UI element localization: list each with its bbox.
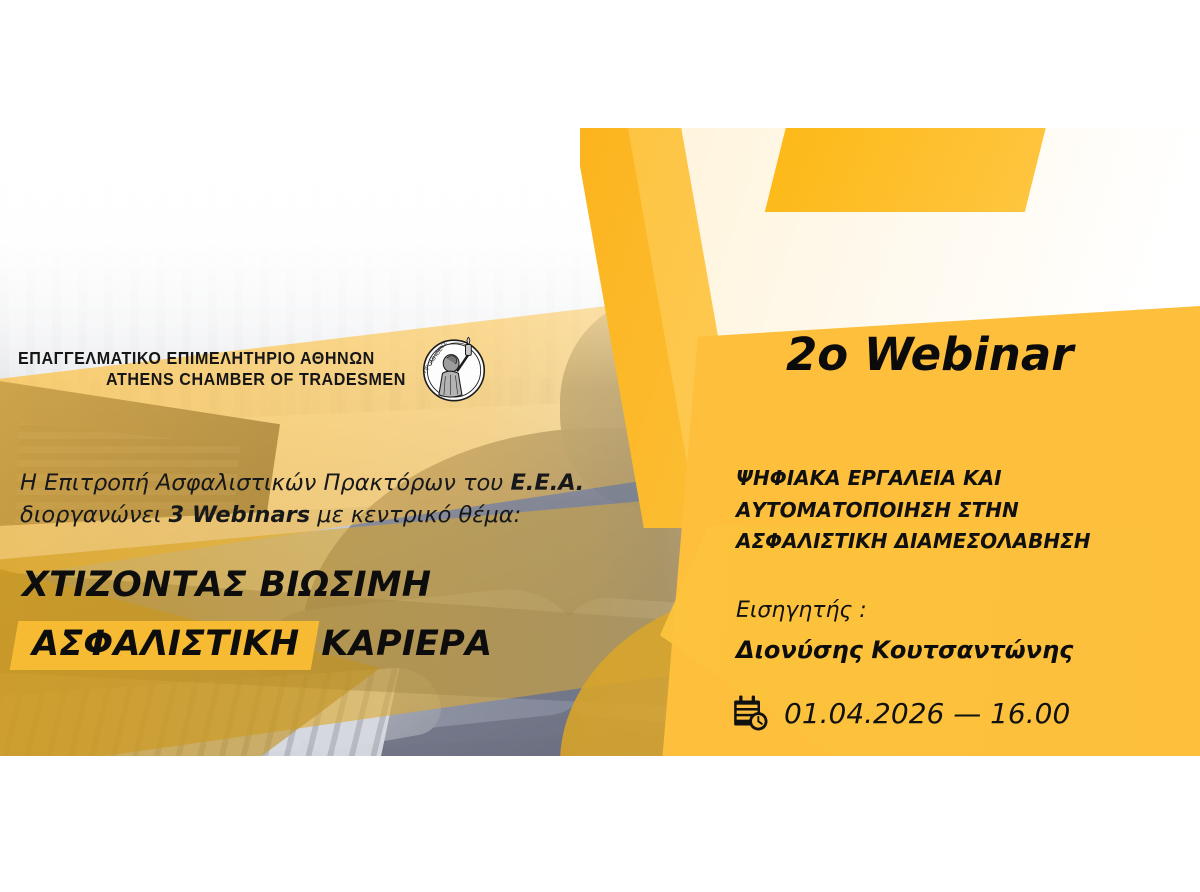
campaign-headline: ΧΤΙΖΟΝΤΑΣ ΒΙΩΣΙΜΗ ΑΣΦΑΛΙΣΤΙΚΗΚΑΡΙΕΡΑ [22, 568, 702, 670]
speaker-label: Εισηγητής : [736, 598, 867, 623]
swoosh-top-tab [765, 128, 1047, 212]
webinar-topic-line-3: ΑΣΦΑΛΙΣΤΙΚΗ ΔΙΑΜΕΣΟΛΑΒΗΣΗ [736, 526, 1176, 558]
webinar-topic: ΨΗΦΙΑΚΑ ΕΡΓΑΛΕΙΑ ΚΑΙ ΑΥΤΟΜΑΤΟΠΟΙΗΣΗ ΣΤΗΝ… [736, 463, 1176, 558]
intro-line-2-lead: διοργανώνει [20, 502, 168, 528]
webinar-datetime-text: 01.04.2026 — 16.00 [784, 697, 1070, 730]
webinar-topic-line-2: ΑΥΤΟΜΑΤΟΠΟΙΗΣΗ ΣΤΗΝ [736, 495, 1176, 527]
intro-eea-abbrev: Ε.Ε.Α. [510, 470, 584, 496]
intro-line-1-lead: Η Επιτροπή Ασφαλιστικών Πρακτόρων του [20, 470, 510, 496]
webinar-datetime: 01.04.2026 — 16.00 [730, 693, 1070, 733]
webinar-number-title: 2ο Webinar [786, 328, 1073, 381]
organization-logo: ΕΠΑΓΓΕΛΜΑΤΙΚΟ ΕΠΙΜΕΛΗΤΗΡΙΟ ΑΘΗΝΩΝ ATHENS… [18, 333, 490, 405]
banner-stage: ΕΠΑΓΓΕΛΜΑΤΙΚΟ ΕΠΙΜΕΛΗΤΗΡΙΟ ΑΘΗΝΩΝ ATHENS… [0, 0, 1200, 892]
headline-highlight-label: ΑΣΦΑΛΙΣΤΙΚΗ [32, 624, 299, 664]
organization-name-greek: ΕΠΑΓΓΕΛΜΑΤΙΚΟ ΕΠΙΜΕΛΗΤΗΡΙΟ ΑΘΗΝΩΝ [18, 348, 375, 369]
organization-logo-text: ΕΠΑΓΓΕΛΜΑΤΙΚΟ ΕΠΙΜΕΛΗΤΗΡΙΟ ΑΘΗΝΩΝ ATHENS… [18, 348, 406, 389]
headline-line-2-rest: ΚΑΡΙΕΡΑ [321, 627, 492, 662]
prometheus-seal-icon: ΠΡΟΜΗΘΕΥΣ [418, 333, 490, 405]
headline-line-2: ΑΣΦΑΛΙΣΤΙΚΗΚΑΡΙΕΡΑ [22, 621, 702, 670]
organization-name-english: ATHENS CHAMBER OF TRADESMEN [49, 369, 406, 390]
calendar-clock-icon [730, 693, 770, 733]
intro-line-2-tail: με κεντρικό θέμα: [310, 502, 521, 528]
intro-line-1: Η Επιτροπή Ασφαλιστικών Πρακτόρων του Ε.… [20, 468, 680, 500]
speaker-name: Διονύσης Κουτσαντώνης [736, 636, 1073, 664]
headline-line-1: ΧΤΙΖΟΝΤΑΣ ΒΙΩΣΙΜΗ [22, 568, 702, 603]
intro-text: Η Επιτροπή Ασφαλιστικών Πρακτόρων του Ε.… [20, 468, 680, 532]
webinar-topic-line-1: ΨΗΦΙΑΚΑ ΕΡΓΑΛΕΙΑ ΚΑΙ [736, 463, 1176, 495]
intro-webinars-count: 3 Webinars [168, 502, 310, 528]
intro-line-2: διοργανώνει 3 Webinars με κεντρικό θέμα: [20, 500, 680, 532]
webinar-banner: ΕΠΑΓΓΕΛΜΑΤΙΚΟ ΕΠΙΜΕΛΗΤΗΡΙΟ ΑΘΗΝΩΝ ATHENS… [0, 128, 1200, 756]
headline-highlight-box: ΑΣΦΑΛΙΣΤΙΚΗ [22, 621, 313, 670]
